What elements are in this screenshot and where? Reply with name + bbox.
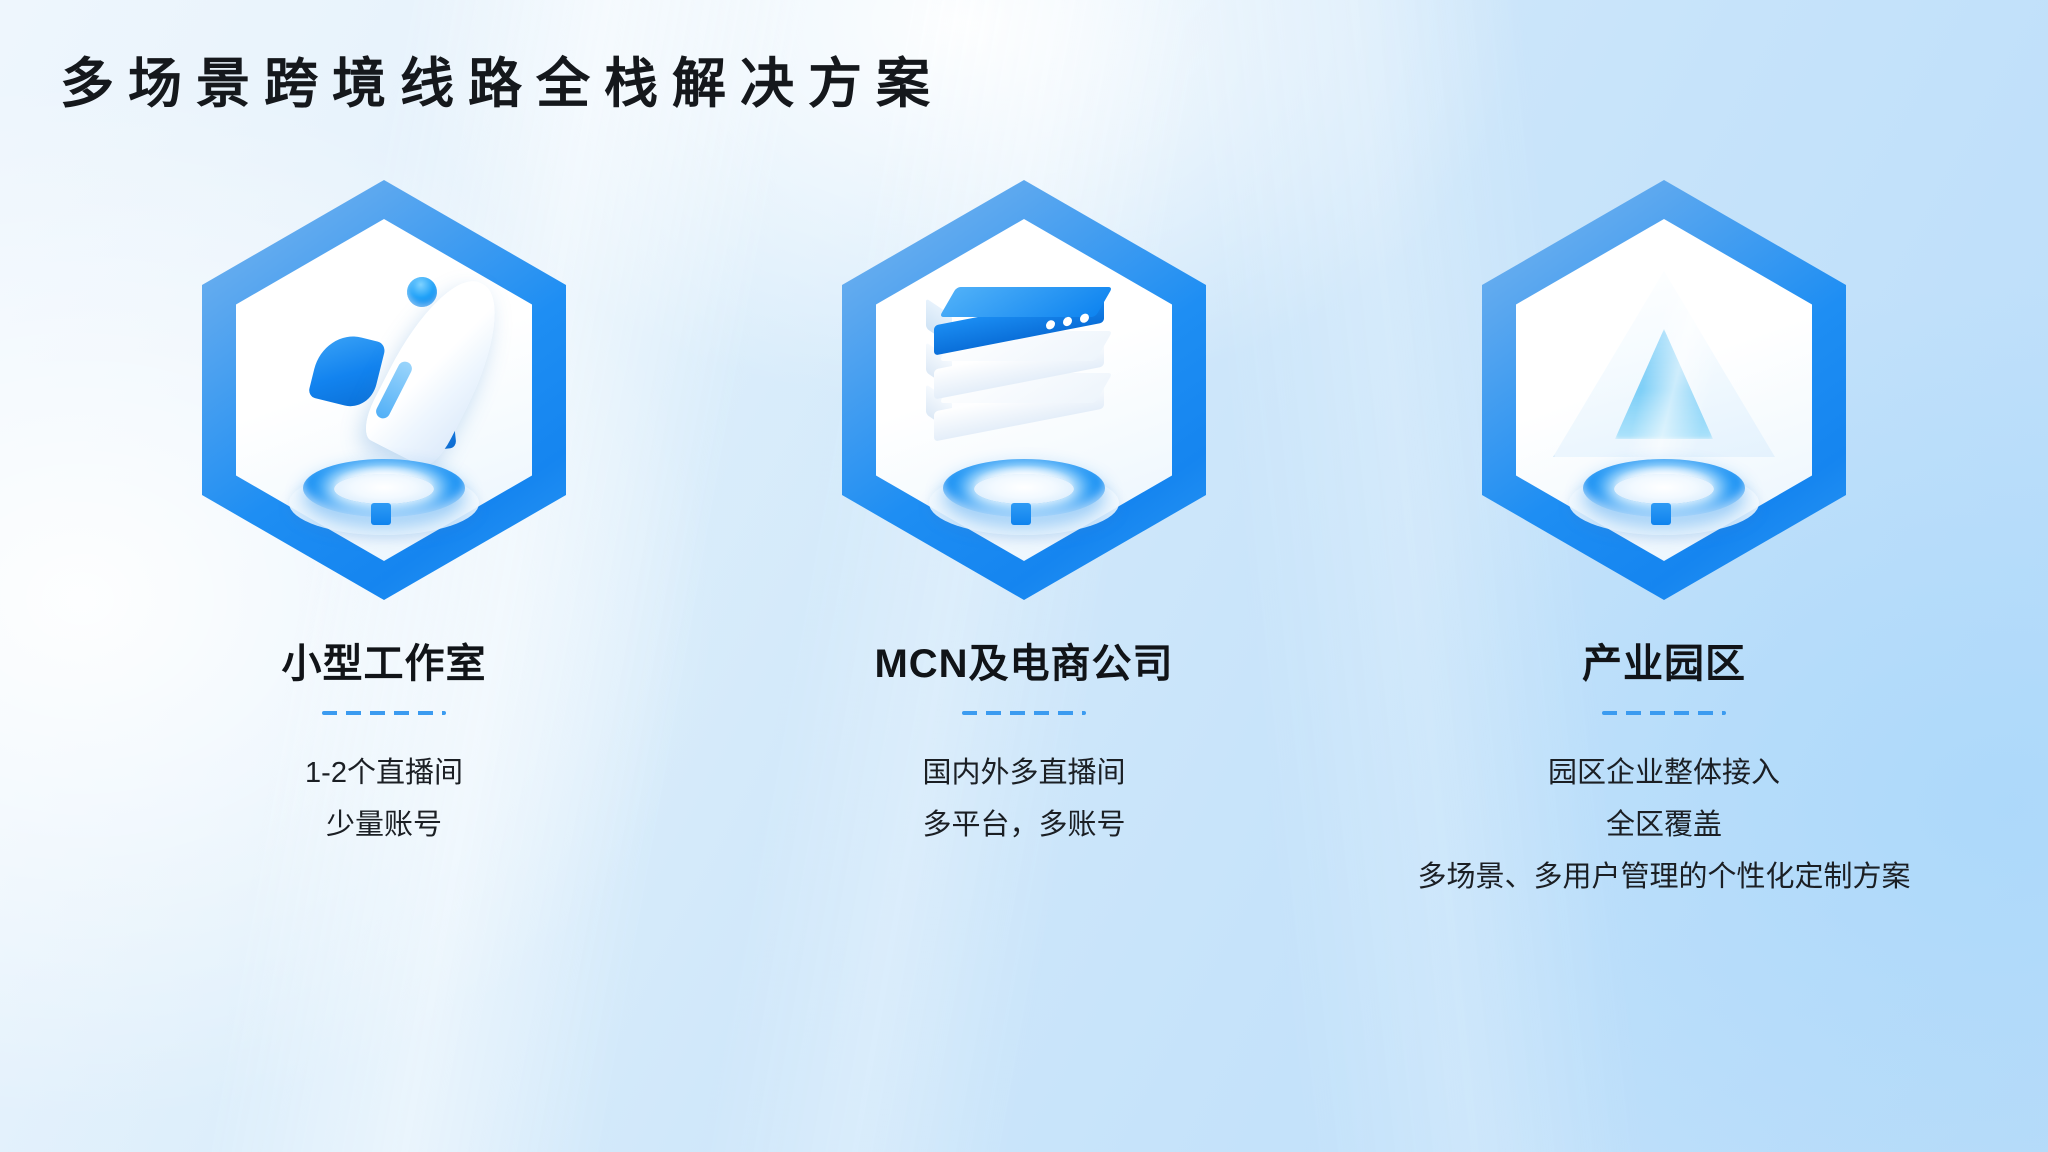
server-stack-group (914, 269, 1134, 469)
scenario-card-studio[interactable]: 小型工作室 1-2个直播间 少量账号 (64, 175, 704, 851)
glow-ring-platform (929, 459, 1119, 537)
scenario-card-mcn[interactable]: MCN及电商公司 国内外多直播间 多平台，多账号 (704, 175, 1344, 851)
card-description: 1-2个直播间 少量账号 (305, 747, 463, 851)
hexagon-badge (824, 175, 1224, 605)
card-description-line: 少量账号 (305, 799, 463, 851)
slide-canvas: 多场景跨境线路全栈解决方案 (0, 0, 2048, 1152)
scenario-card-industrial-park[interactable]: 产业园区 园区企业整体接入 全区覆盖 多场景、多用户管理的个性化定制方案 (1344, 175, 1984, 903)
card-description-line: 1-2个直播间 (305, 747, 463, 799)
ring-glow-center (1614, 474, 1714, 504)
glow-ring-platform (289, 459, 479, 537)
card-title: 小型工作室 (282, 631, 487, 689)
ring-glow-center (334, 474, 434, 504)
rocket-hull-icon (357, 264, 520, 472)
rocket-3d-icon (234, 217, 534, 563)
hexagon-badge (184, 175, 584, 605)
rocket-body-group (279, 261, 489, 491)
ring-glow-center (974, 474, 1074, 504)
card-title: MCN及电商公司 (874, 631, 1173, 689)
glass-pyramid-3d-icon (1514, 217, 1814, 563)
server-unit-top-icon (926, 287, 1122, 335)
card-description: 园区企业整体接入 全区覆盖 多场景、多用户管理的个性化定制方案 (1417, 747, 1910, 903)
card-description: 国内外多直播间 多平台，多账号 (922, 747, 1125, 851)
ring-notch (371, 503, 391, 525)
server-stack-3d-icon (874, 217, 1174, 563)
scenario-card-row: 小型工作室 1-2个直播间 少量账号 (0, 175, 2048, 903)
card-title: 产业园区 (1582, 631, 1746, 689)
card-description-line: 多场景、多用户管理的个性化定制方案 (1417, 851, 1910, 903)
card-divider (1602, 711, 1726, 715)
pyramid-edge-highlight (1553, 271, 1775, 457)
hexagon-badge (1464, 175, 1864, 605)
page-title: 多场景跨境线路全栈解决方案 (60, 52, 944, 117)
ring-notch (1011, 503, 1031, 525)
card-description-line: 全区覆盖 (1417, 799, 1910, 851)
card-divider (962, 711, 1086, 715)
ring-notch (1651, 503, 1671, 525)
card-divider (322, 711, 446, 715)
pyramid-group (1553, 271, 1775, 461)
card-description-line: 国内外多直播间 (922, 747, 1125, 799)
card-description-line: 园区企业整体接入 (1417, 747, 1910, 799)
glow-ring-platform (1569, 459, 1759, 537)
card-description-line: 多平台，多账号 (922, 799, 1125, 851)
